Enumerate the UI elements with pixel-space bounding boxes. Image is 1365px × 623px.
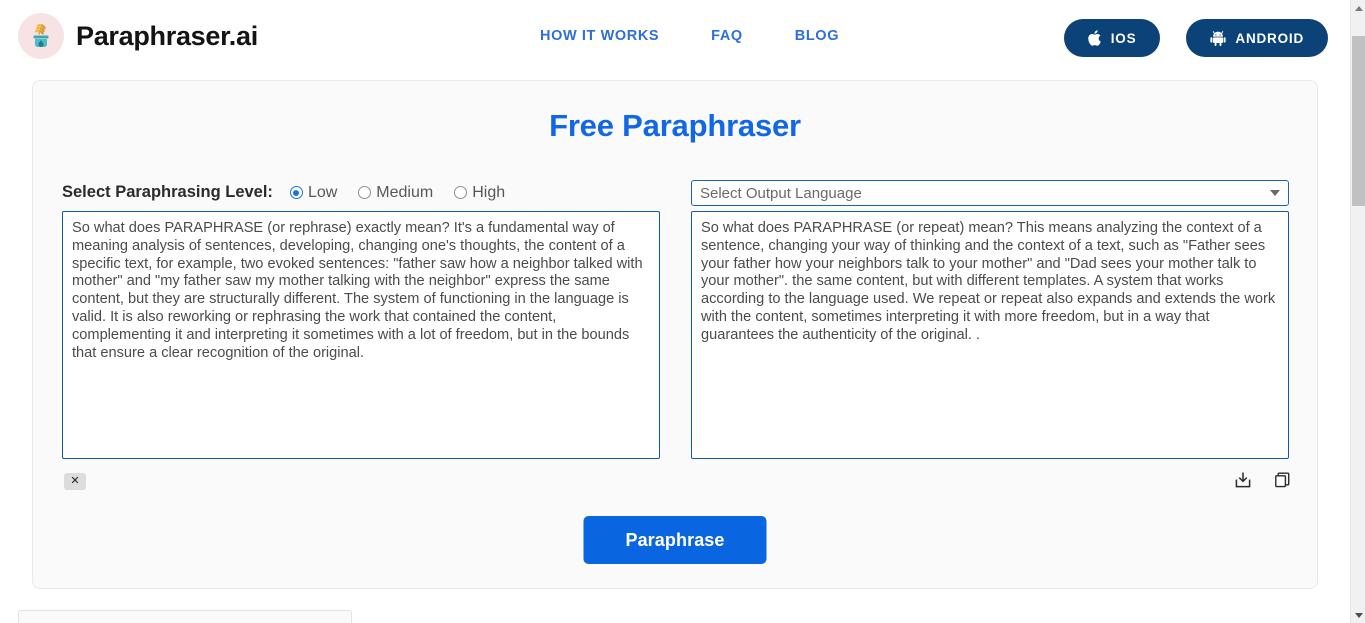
site-header: Paraphraser.ai HOW IT WORKS FAQ BLOG IOS bbox=[0, 0, 1350, 76]
below-fold-panel bbox=[18, 610, 352, 623]
chevron-down-icon bbox=[1270, 190, 1280, 196]
paraphrasing-level-group: Select Paraphrasing Level: Low Medium Hi… bbox=[62, 183, 517, 202]
scrollbar-thumb[interactable] bbox=[1352, 36, 1365, 206]
main-nav: HOW IT WORKS FAQ BLOG bbox=[540, 28, 839, 44]
ios-button-label: IOS bbox=[1111, 31, 1137, 46]
scrollbar-up-arrow[interactable] bbox=[1351, 0, 1365, 16]
page-viewport: Paraphraser.ai HOW IT WORKS FAQ BLOG IOS bbox=[0, 0, 1350, 623]
page-scrollbar[interactable] bbox=[1350, 0, 1365, 623]
tool-body: Select Paraphrasing Level: Low Medium Hi… bbox=[33, 81, 1317, 588]
output-textarea[interactable] bbox=[691, 211, 1289, 459]
level-option-low-label: Low bbox=[308, 184, 337, 202]
nav-blog[interactable]: BLOG bbox=[795, 28, 839, 44]
radio-low-icon[interactable] bbox=[290, 186, 303, 199]
android-button-label: ANDROID bbox=[1235, 31, 1304, 46]
triangle-up-icon bbox=[1355, 6, 1363, 11]
scrollbar-down-arrow[interactable] bbox=[1351, 607, 1365, 623]
android-app-button[interactable]: ANDROID bbox=[1186, 19, 1328, 57]
level-option-low[interactable]: Low bbox=[290, 184, 337, 202]
app-store-buttons: IOS ANDROID bbox=[1064, 19, 1328, 57]
output-language-value: Select Output Language bbox=[700, 185, 1270, 202]
nav-faq[interactable]: FAQ bbox=[711, 28, 743, 44]
brand-name: Paraphraser.ai bbox=[76, 21, 258, 52]
input-textarea[interactable] bbox=[62, 211, 660, 459]
radio-medium-icon[interactable] bbox=[358, 186, 371, 199]
inkwell-quill-icon bbox=[18, 13, 64, 59]
paraphraser-card: Free Paraphraser Select Paraphrasing Lev… bbox=[32, 80, 1318, 589]
level-option-medium[interactable]: Medium bbox=[358, 184, 433, 202]
android-icon bbox=[1210, 30, 1226, 46]
paraphrase-button[interactable]: Paraphrase bbox=[584, 516, 767, 564]
nav-how-it-works[interactable]: HOW IT WORKS bbox=[540, 28, 659, 44]
copy-button[interactable] bbox=[1271, 469, 1295, 493]
ios-app-button[interactable]: IOS bbox=[1064, 19, 1161, 57]
output-language-select[interactable]: Select Output Language bbox=[691, 180, 1289, 206]
output-tools bbox=[1231, 469, 1295, 493]
brand-logo-link[interactable]: Paraphraser.ai bbox=[18, 13, 258, 59]
clear-input-button[interactable]: ✕ bbox=[64, 473, 86, 490]
copy-icon bbox=[1273, 470, 1293, 493]
download-button[interactable] bbox=[1231, 469, 1255, 493]
level-option-high[interactable]: High bbox=[454, 184, 505, 202]
paraphrasing-level-label: Select Paraphrasing Level: bbox=[62, 183, 273, 202]
triangle-down-icon bbox=[1355, 613, 1363, 618]
level-option-medium-label: Medium bbox=[376, 184, 433, 202]
radio-high-icon[interactable] bbox=[454, 186, 467, 199]
apple-icon bbox=[1088, 30, 1102, 46]
level-option-high-label: High bbox=[472, 184, 505, 202]
download-icon bbox=[1233, 470, 1253, 493]
